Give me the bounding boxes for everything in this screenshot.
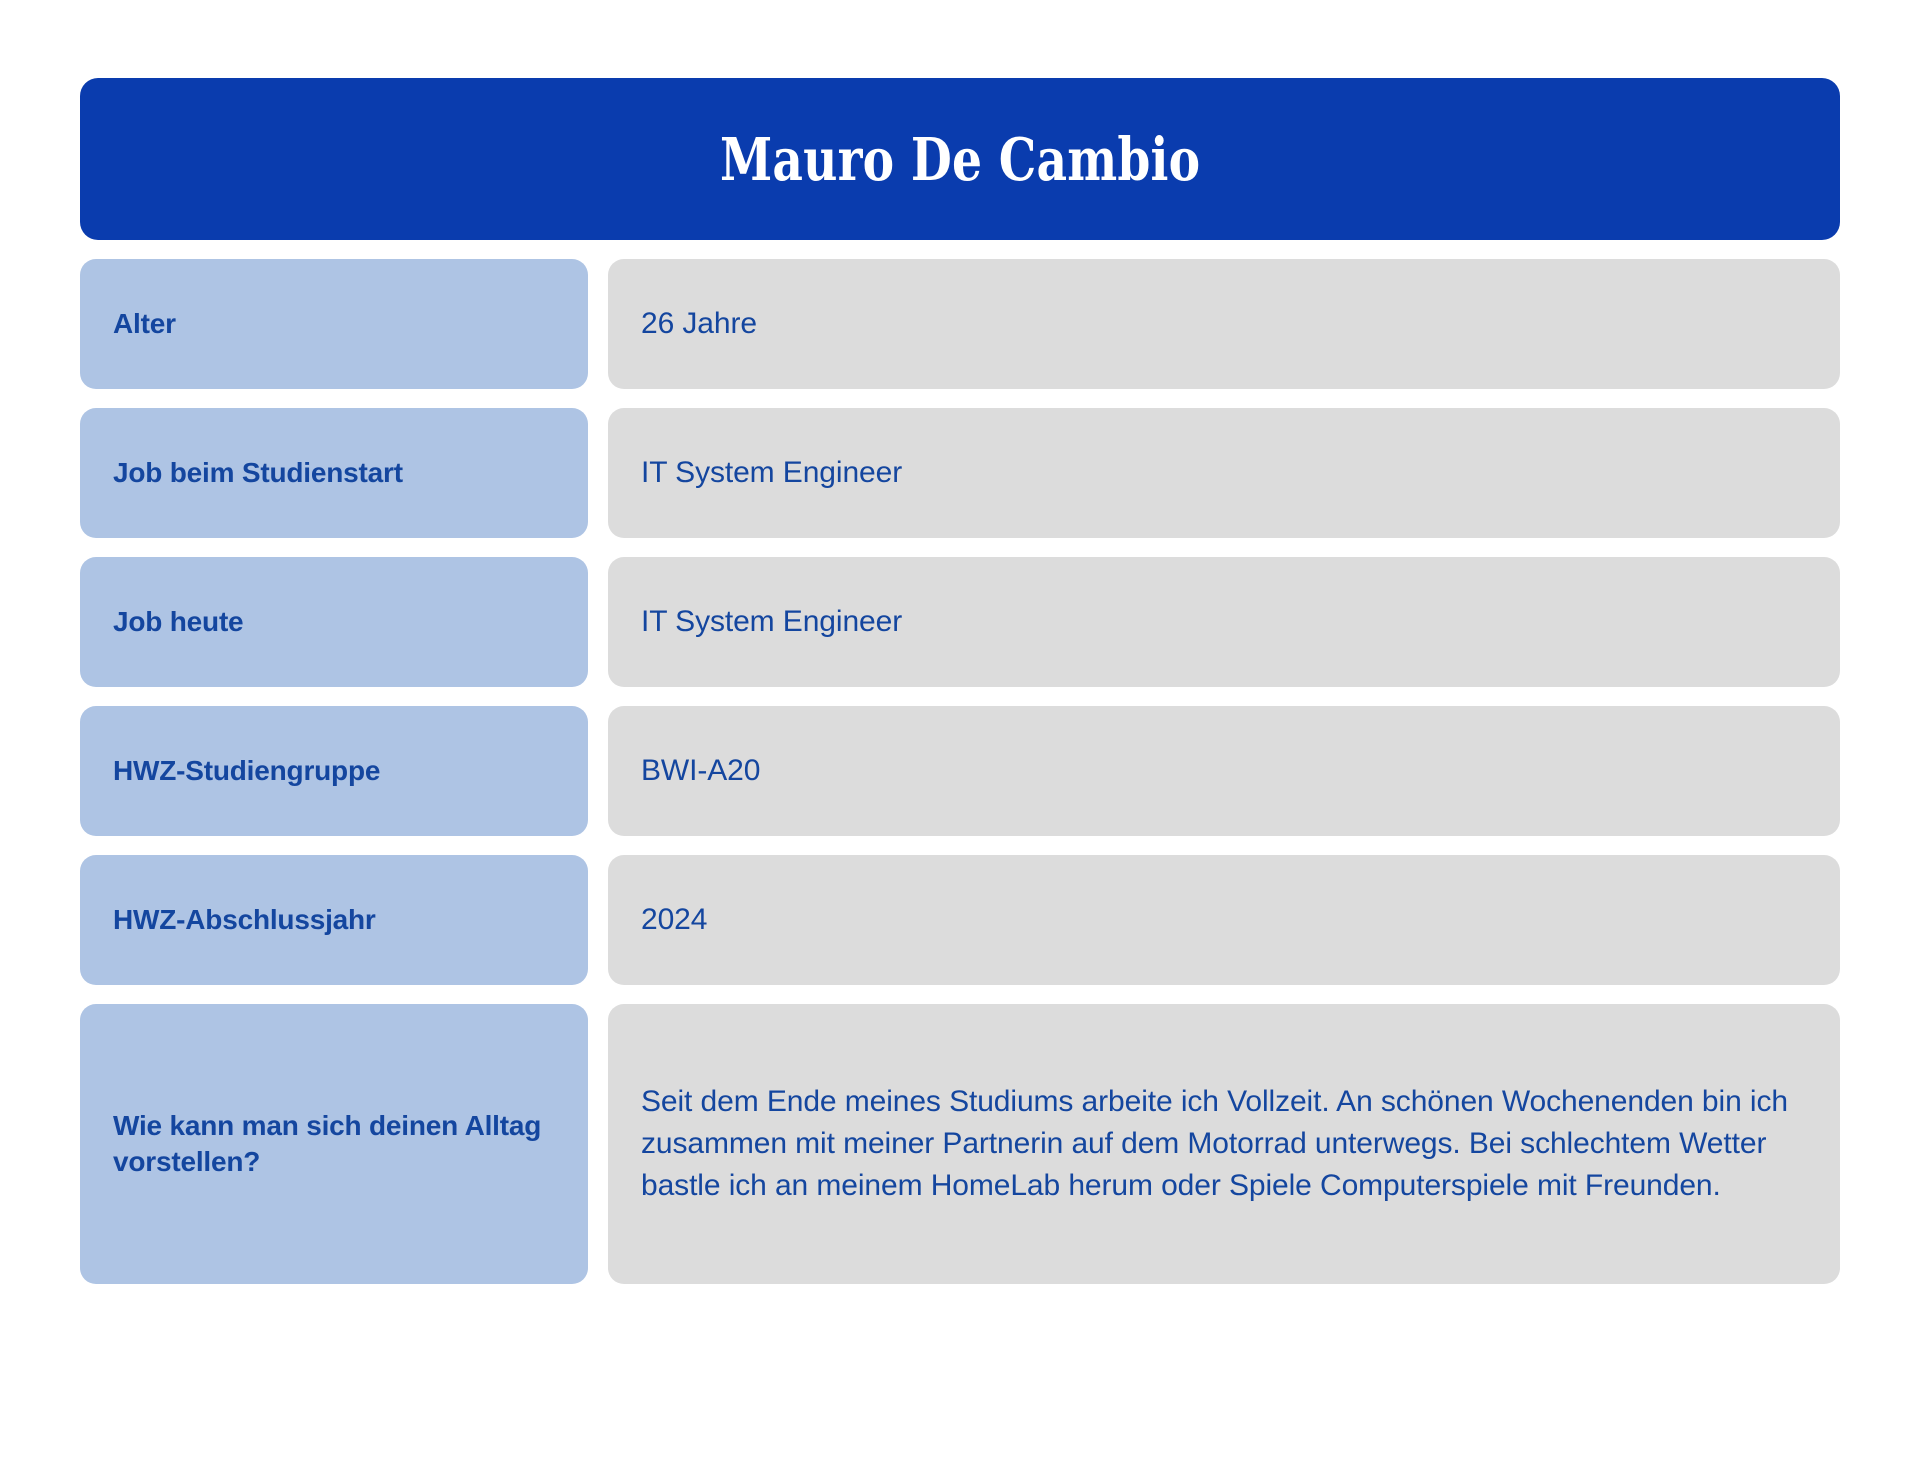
row-label-job-heute: Job heute	[80, 557, 588, 687]
card-header-banner: Mauro De Cambio	[80, 78, 1840, 240]
row-value-alltag-antwort: Seit dem Ende meines Studiums arbeite ic…	[608, 1004, 1840, 1284]
row-value-text: Seit dem Ende meines Studiums arbeite ic…	[641, 1081, 1807, 1207]
row-label-text: HWZ-Studiengruppe	[113, 753, 380, 789]
table-row: HWZ-Abschlussjahr 2024	[80, 855, 1840, 985]
row-label-hwz-studiengruppe: HWZ-Studiengruppe	[80, 706, 588, 836]
row-label-text: Job beim Studienstart	[113, 455, 403, 491]
row-value-text: BWI-A20	[641, 751, 760, 791]
row-label-text: Alter	[113, 306, 176, 342]
page-title: Mauro De Cambio	[720, 130, 1200, 189]
row-label-job-beim-studienstart: Job beim Studienstart	[80, 408, 588, 538]
row-value-job-beim-studienstart: IT System Engineer	[608, 408, 1840, 538]
row-label-text: HWZ-Abschlussjahr	[113, 902, 376, 938]
row-value-text: 2024	[641, 900, 707, 940]
row-label-text: Wie kann man sich deinen Alltag vorstell…	[113, 1108, 555, 1181]
table-row: Wie kann man sich deinen Alltag vorstell…	[80, 1004, 1840, 1284]
profile-info-table: Alter 26 Jahre Job beim Studienstart IT …	[80, 259, 1840, 1284]
table-row: Job beim Studienstart IT System Engineer	[80, 408, 1840, 538]
table-row: Job heute IT System Engineer	[80, 557, 1840, 687]
row-value-text: 26 Jahre	[641, 304, 757, 344]
row-value-hwz-studiengruppe: BWI-A20	[608, 706, 1840, 836]
row-label-hwz-abschlussjahr: HWZ-Abschlussjahr	[80, 855, 588, 985]
row-value-alter: 26 Jahre	[608, 259, 1840, 389]
row-value-text: IT System Engineer	[641, 602, 902, 642]
profile-card: Mauro De Cambio Alter 26 Jahre Job beim …	[0, 0, 1920, 1463]
row-value-text: IT System Engineer	[641, 453, 902, 493]
row-label-text: Job heute	[113, 604, 243, 640]
row-label-alter: Alter	[80, 259, 588, 389]
row-label-alltag-frage: Wie kann man sich deinen Alltag vorstell…	[80, 1004, 588, 1284]
row-value-hwz-abschlussjahr: 2024	[608, 855, 1840, 985]
table-row: Alter 26 Jahre	[80, 259, 1840, 389]
row-value-job-heute: IT System Engineer	[608, 557, 1840, 687]
table-row: HWZ-Studiengruppe BWI-A20	[80, 706, 1840, 836]
